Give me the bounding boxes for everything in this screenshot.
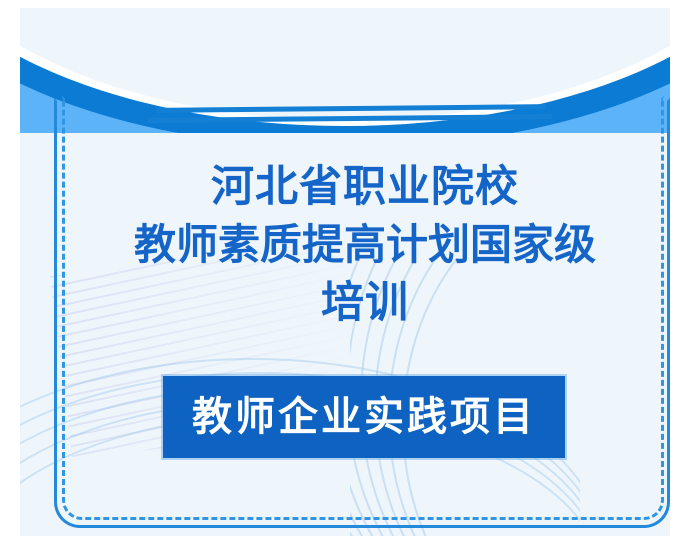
header-rule-top xyxy=(156,104,546,113)
poster-canvas: 河北省职业院校 教师素质提高计划国家级 培训 教师企业实践项目 xyxy=(0,0,688,544)
canvas-margin-right xyxy=(670,0,688,544)
poster-title: 河北省职业院校 教师素质提高计划国家级 培训 xyxy=(82,158,648,332)
canvas-margin-top xyxy=(0,0,688,8)
title-line-2: 教师素质提高计划国家级 xyxy=(82,216,648,274)
poster-card-background: 河北省职业院校 教师素质提高计划国家级 培训 教师企业实践项目 xyxy=(20,8,670,536)
header-rule-group xyxy=(20,8,670,148)
title-line-3: 培训 xyxy=(82,274,648,332)
canvas-margin-bottom xyxy=(0,536,688,544)
subtitle-text: 教师企业实践项目 xyxy=(192,395,536,439)
title-line-1: 河北省职业院校 xyxy=(82,158,648,216)
header-rule-bottom xyxy=(148,114,552,123)
subtitle-banner: 教师企业实践项目 xyxy=(163,376,565,458)
canvas-margin-left xyxy=(0,0,20,544)
